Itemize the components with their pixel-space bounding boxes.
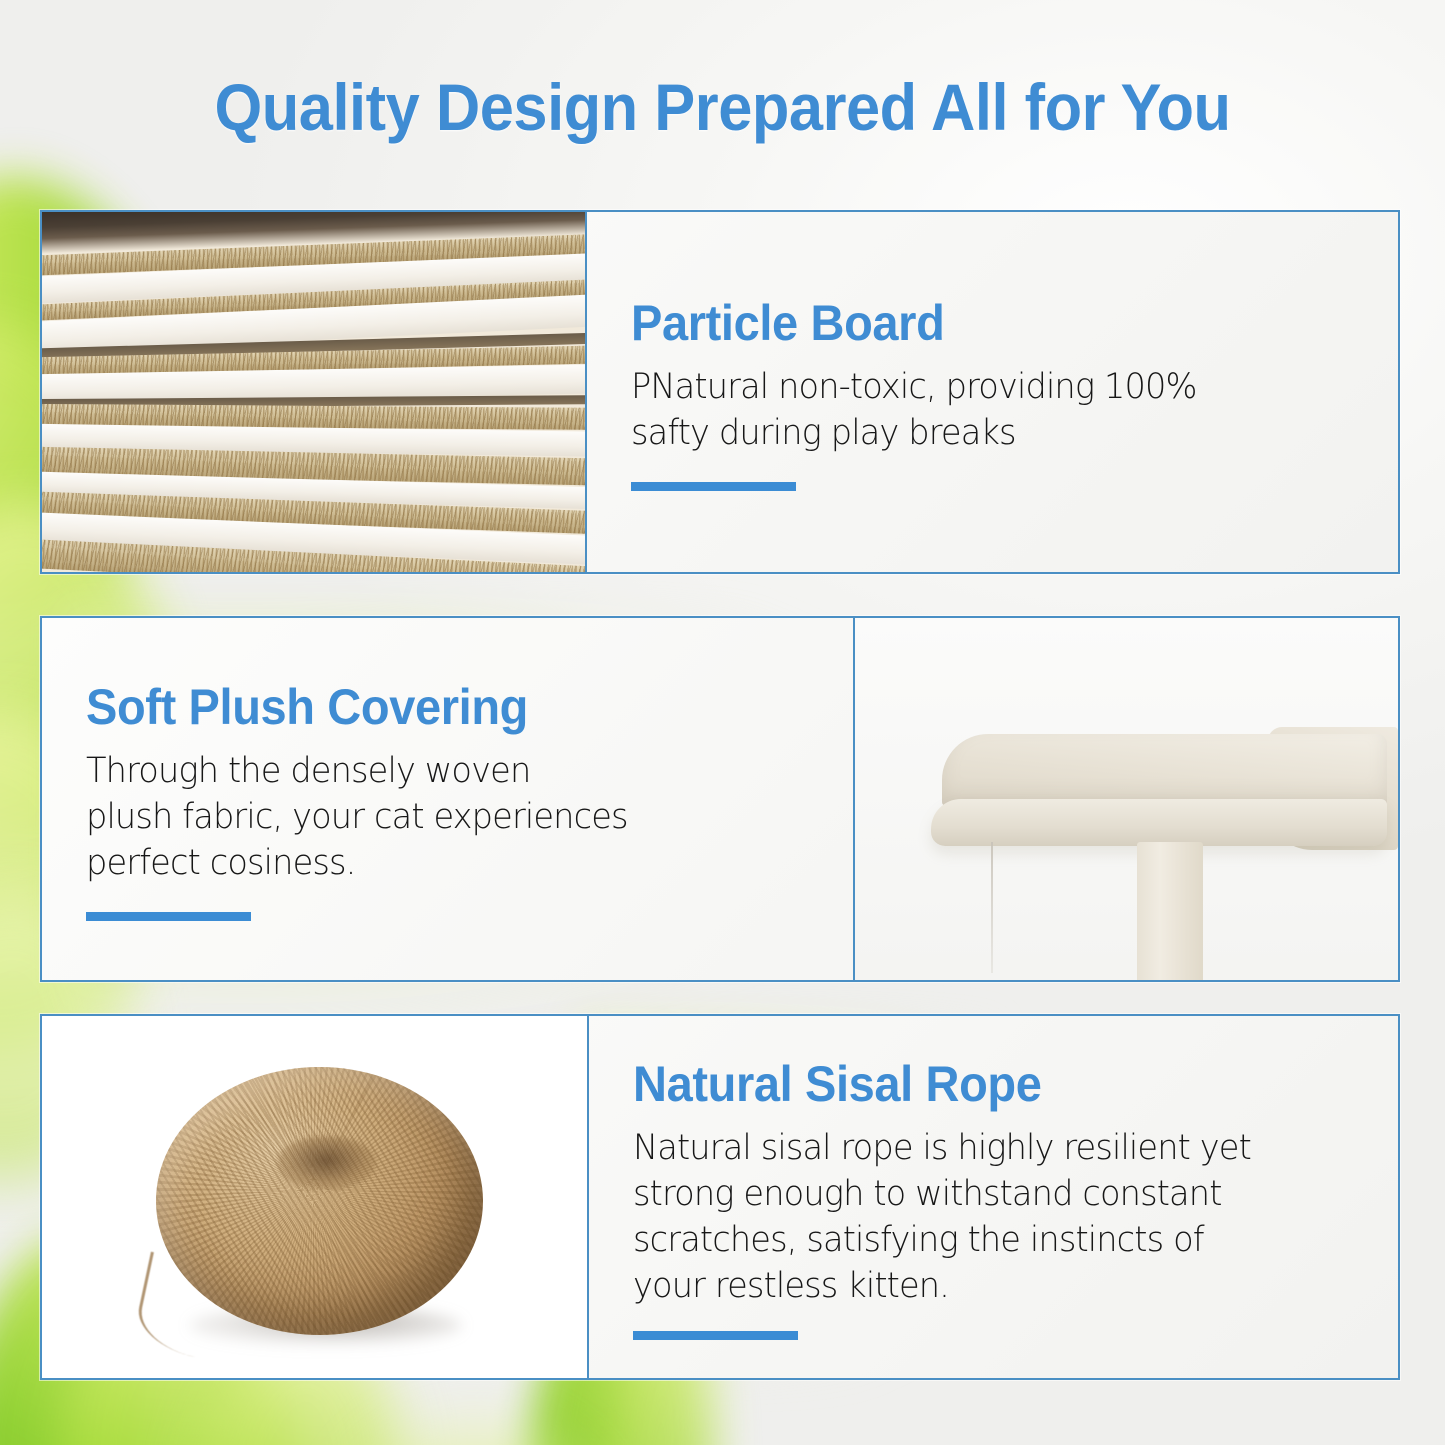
plush-platform-top xyxy=(942,734,1387,806)
plush-support-post xyxy=(1137,842,1202,980)
particle-board-copy: Particle Board PNatural non-toxic, provi… xyxy=(585,212,1398,572)
page-title: Quality Design Prepared All for You xyxy=(51,66,1395,148)
accent-bar xyxy=(86,912,251,921)
card-body-particle-board: PNatural non-toxic, providing 100% safty… xyxy=(631,364,1325,456)
feature-card-natural-sisal-rope: Natural Sisal Rope Natural sisal rope is… xyxy=(40,1014,1400,1380)
card-title-particle-board: Particle Board xyxy=(631,294,1311,352)
sisal-rope-copy: Natural Sisal Rope Natural sisal rope is… xyxy=(587,1016,1398,1378)
card-title-soft-plush-covering: Soft Plush Covering xyxy=(86,678,766,736)
soft-plush-copy: Soft Plush Covering Through the densely … xyxy=(42,618,853,980)
plush-platform-slab xyxy=(931,799,1387,846)
accent-bar xyxy=(631,482,796,491)
plush-hanging-string xyxy=(991,842,993,972)
card-body-natural-sisal-rope: Natural sisal rope is highly resilient y… xyxy=(633,1125,1325,1309)
particle-board-image xyxy=(42,212,585,572)
infographic-canvas: Quality Design Prepared All for You xyxy=(0,0,1445,1445)
accent-bar xyxy=(633,1331,798,1340)
feature-card-soft-plush-covering: Soft Plush Covering Through the densely … xyxy=(40,616,1400,982)
twine-ball-core xyxy=(277,1136,375,1190)
card-title-natural-sisal-rope: Natural Sisal Rope xyxy=(633,1055,1311,1113)
card-body-soft-plush-covering: Through the densely woven plush fabric, … xyxy=(86,748,780,886)
sisal-twine-image xyxy=(42,1016,587,1378)
plush-perch-image xyxy=(853,618,1398,980)
feature-card-particle-board: Particle Board PNatural non-toxic, provi… xyxy=(40,210,1400,574)
